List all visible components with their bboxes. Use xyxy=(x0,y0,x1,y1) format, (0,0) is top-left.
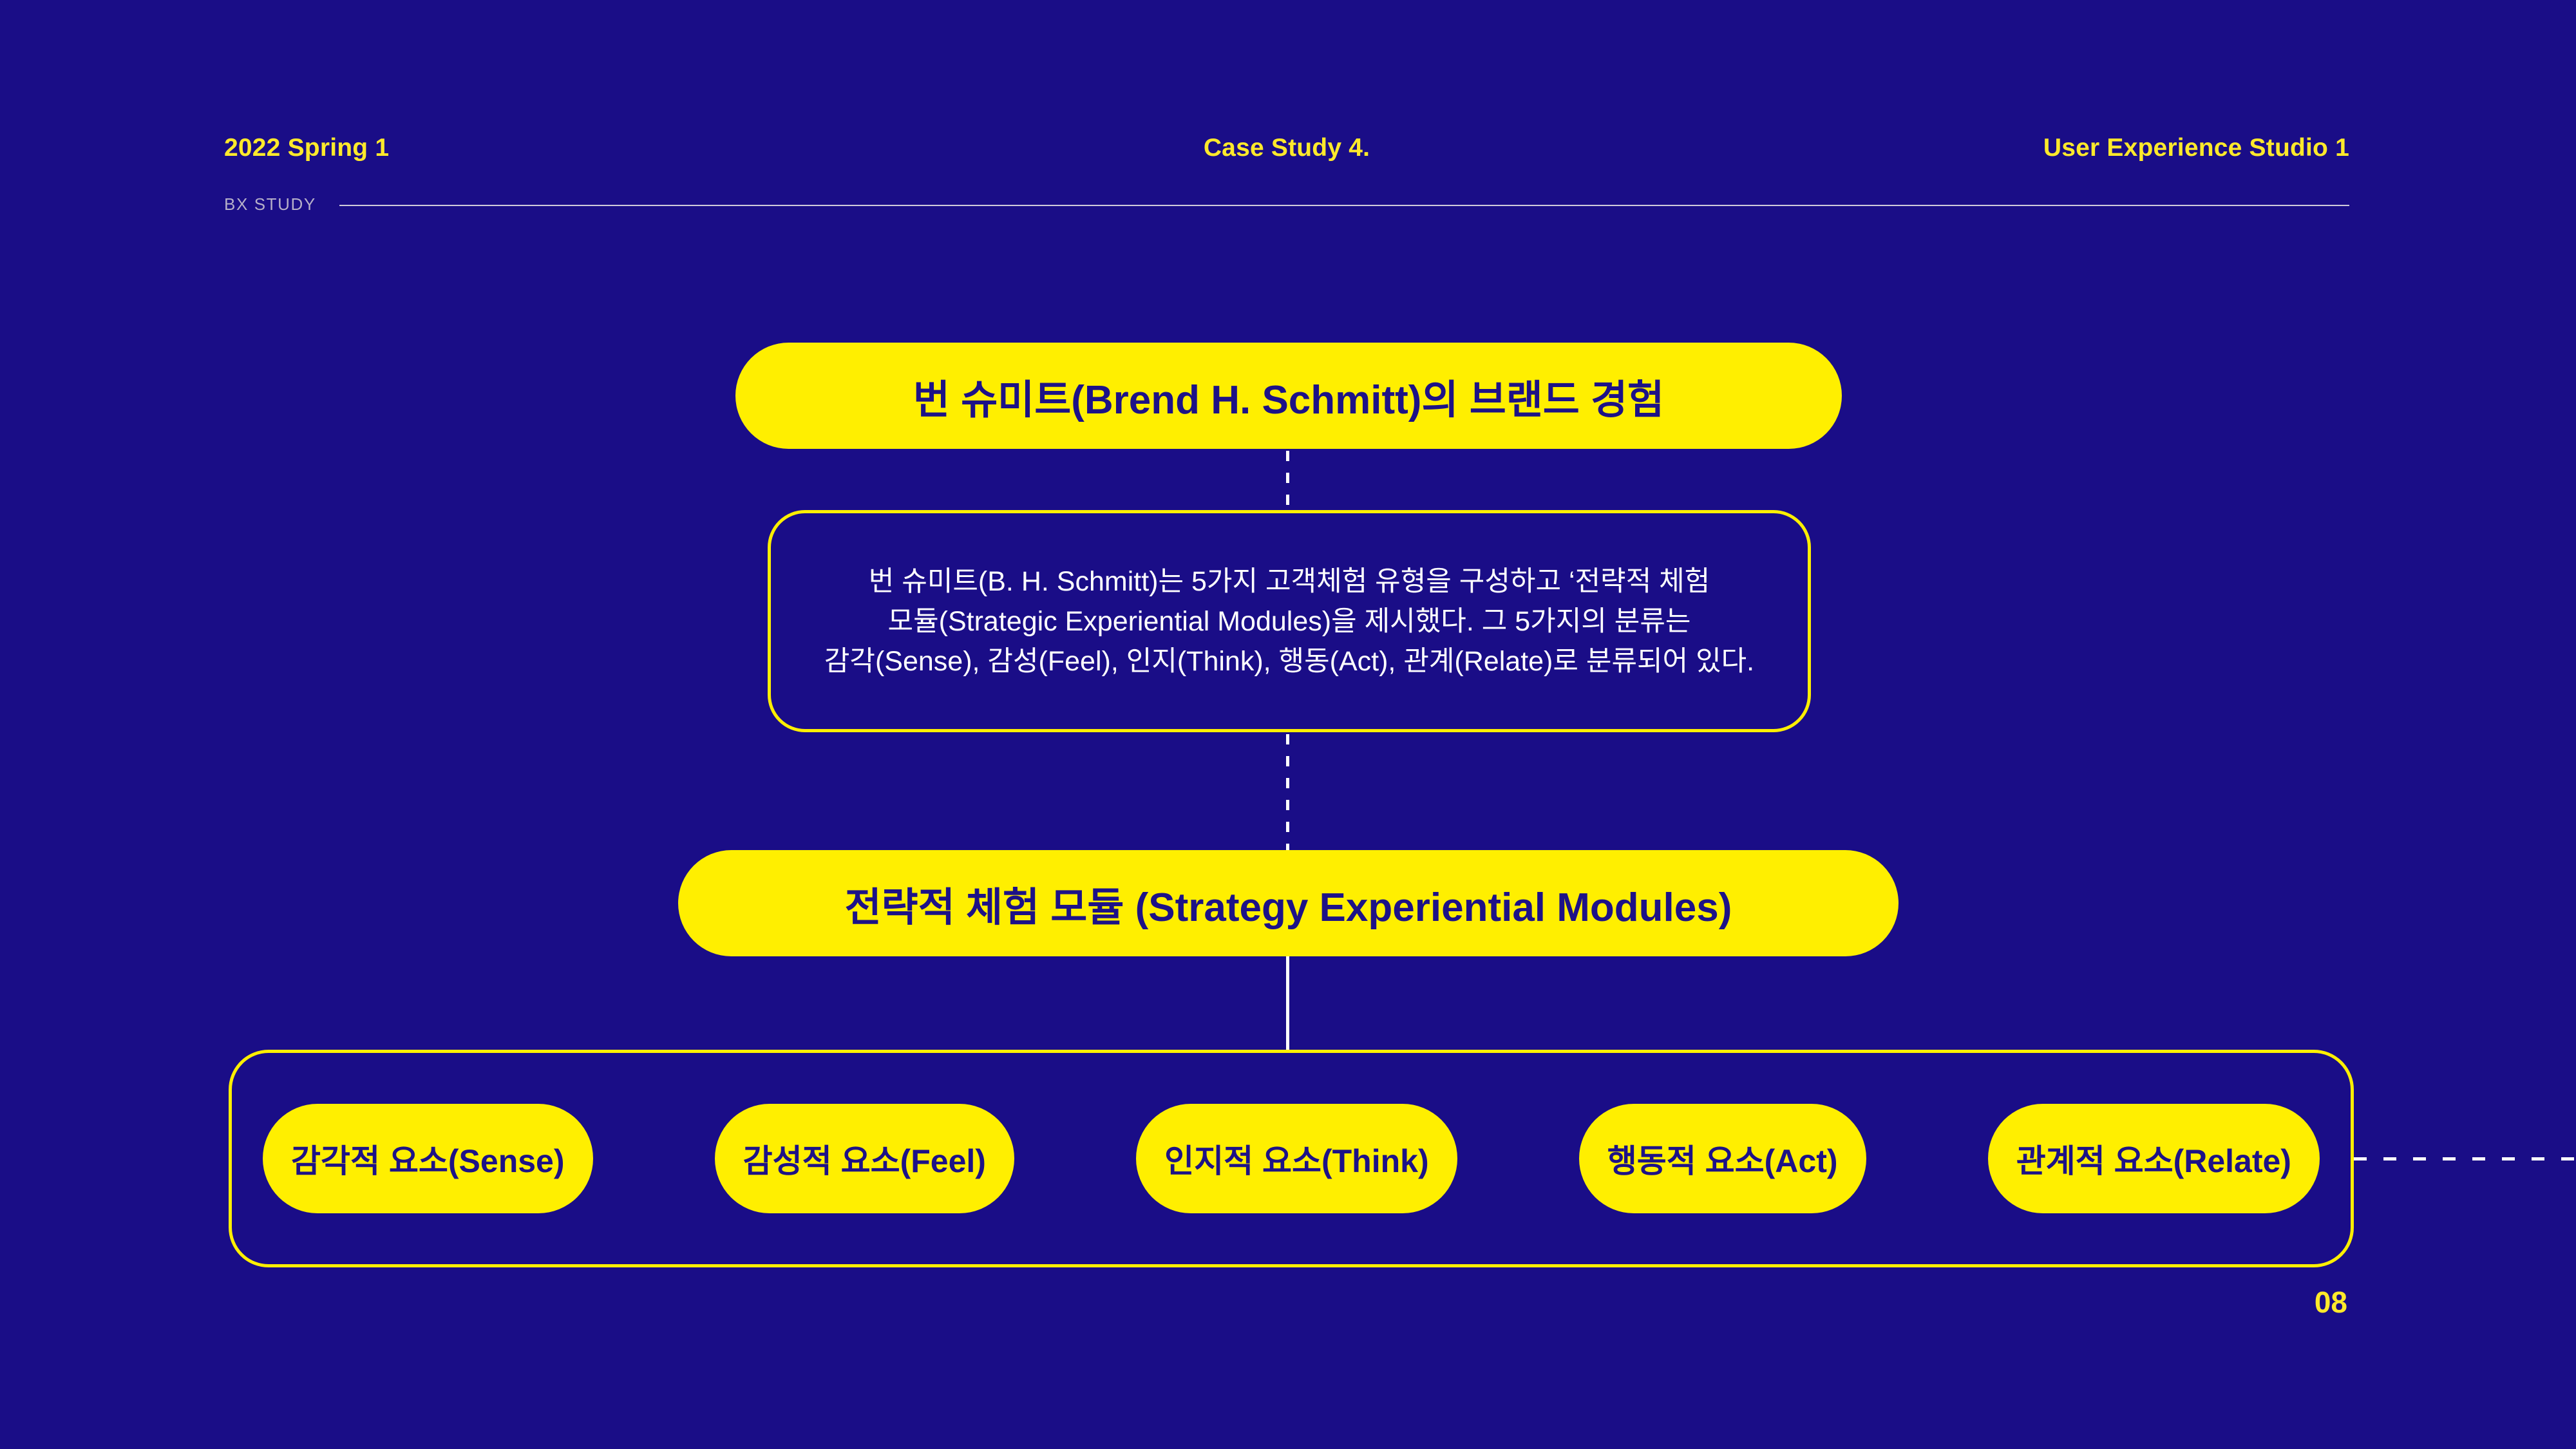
connector-description-to-modules xyxy=(1286,734,1289,850)
header-center-label: Case Study 4. xyxy=(1204,134,1370,162)
modules-pill: 전략적 체험 모듈 (Strategy Experiential Modules… xyxy=(678,850,1899,956)
element-chip-act: 행동적 요소(Act) xyxy=(1579,1104,1866,1213)
connector-elements-trailing-dashes xyxy=(2354,1157,2576,1160)
slide-header: 2022 Spring 1 Case Study 4. User Experie… xyxy=(224,129,2349,167)
description-line: 번 슈미트(B. H. Schmitt)는 5가지 고객체험 유형을 구성하고 … xyxy=(869,562,1710,601)
element-chip-think: 인지적 요소(Think) xyxy=(1136,1104,1457,1213)
title-pill: 번 슈미트(Brend H. Schmitt)의 브랜드 경험 xyxy=(735,343,1842,449)
slide-canvas: 2022 Spring 1 Case Study 4. User Experie… xyxy=(0,0,2576,1449)
description-box: 번 슈미트(B. H. Schmitt)는 5가지 고객체험 유형을 구성하고 … xyxy=(768,510,1811,732)
subheader-divider xyxy=(339,205,2349,206)
slide-subheader: BX STUDY xyxy=(224,193,2349,215)
connector-modules-to-elements xyxy=(1286,956,1289,1050)
element-chip-relate: 관계적 요소(Relate) xyxy=(1988,1104,2320,1213)
element-chip-feel: 감성적 요소(Feel) xyxy=(715,1104,1014,1213)
header-right-label: User Experience Studio 1 xyxy=(2043,134,2349,162)
subheader-label: BX STUDY xyxy=(224,194,316,214)
elements-container: 감각적 요소(Sense) 감성적 요소(Feel) 인지적 요소(Think)… xyxy=(229,1050,2354,1267)
page-number: 08 xyxy=(2315,1285,2347,1320)
description-line: 모듈(Strategic Experiential Modules)을 제시했다… xyxy=(888,601,1691,641)
connector-title-to-description xyxy=(1286,451,1289,510)
element-chip-sense: 감각적 요소(Sense) xyxy=(263,1104,593,1213)
description-line: 감각(Sense), 감성(Feel), 인지(Think), 행동(Act),… xyxy=(824,641,1754,681)
header-left-label: 2022 Spring 1 xyxy=(224,134,389,162)
